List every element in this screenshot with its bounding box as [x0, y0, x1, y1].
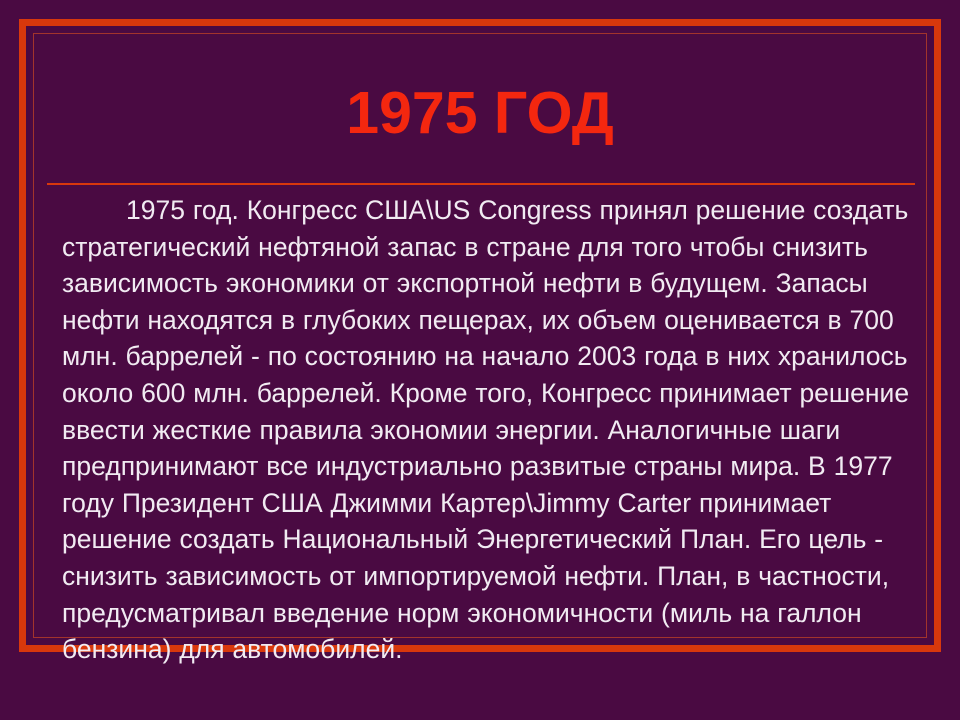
title-divider-rule — [47, 183, 915, 185]
slide-body-paragraph: 1975 год. Конгресс США\US Congress приня… — [62, 192, 917, 668]
slide-title: 1975 ГОД — [52, 84, 908, 143]
slide-canvas: 1975 ГОД 1975 год. Конгресс США\US Congr… — [0, 0, 960, 720]
